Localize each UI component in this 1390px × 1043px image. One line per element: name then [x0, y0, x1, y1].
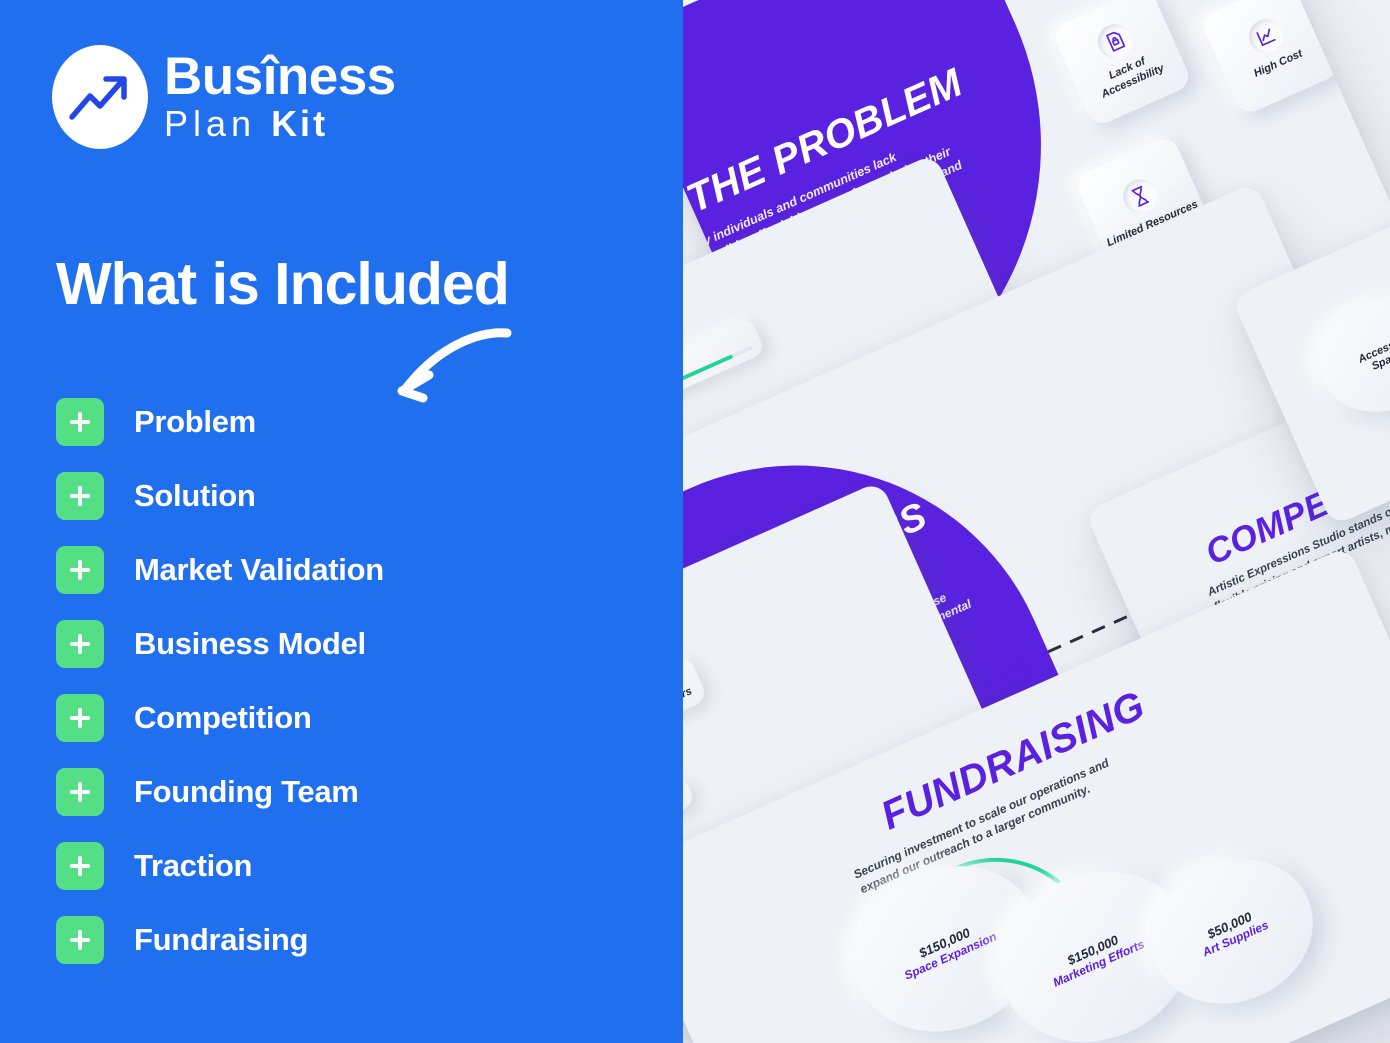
line-chart-icon [1244, 14, 1289, 59]
accessible-spaces-bubble[interactable]: Accessible Spaces [1301, 275, 1390, 432]
list-item[interactable]: Business Model [56, 607, 384, 681]
plus-icon [56, 694, 104, 742]
plus-icon [56, 546, 104, 594]
bubble-label: Accessible Spaces [1342, 325, 1390, 384]
brand-wordmark: Busîness Plan Kit [164, 51, 396, 143]
brand-line-2: Plan Kit [164, 105, 396, 143]
list-item-label: Traction [134, 848, 252, 884]
list-item[interactable]: Problem [56, 385, 384, 459]
list-item[interactable]: Traction [56, 829, 384, 903]
problem-card-label: Lack of Accessibility [1075, 41, 1184, 109]
problem-card-high-cost[interactable]: High Cost [1199, 0, 1342, 117]
lock-document-icon [1093, 19, 1138, 64]
curved-down-left-arrow-icon [385, 325, 515, 405]
plus-icon [56, 398, 104, 446]
list-item-label: Competition [134, 700, 312, 736]
list-item-label: Fundraising [134, 922, 308, 958]
hourglass-icon [1118, 174, 1163, 219]
plus-icon [56, 768, 104, 816]
brand-logo[interactable]: Busîness Plan Kit [52, 45, 396, 149]
brand-kit-text: Kit [271, 103, 328, 144]
plus-icon [56, 620, 104, 668]
list-item[interactable]: Competition [56, 681, 384, 755]
problem-card-accessibility[interactable]: Lack of Accessibility [1051, 0, 1194, 128]
list-item-label: Market Validation [134, 552, 384, 588]
poster-canvas: THE PROBLEM Many individuals and communi… [0, 0, 1390, 1043]
brand-plan-text: Plan [164, 103, 271, 144]
list-item-label: Problem [134, 404, 256, 440]
list-item-label: Solution [134, 478, 256, 514]
left-blue-panel: Busîness Plan Kit What is Included Probl… [0, 0, 683, 1043]
list-item-label: Business Model [134, 626, 366, 662]
plus-icon [56, 472, 104, 520]
plus-icon [56, 842, 104, 890]
page-title: What is Included [56, 250, 509, 318]
list-item-label: Founding Team [134, 774, 359, 810]
plus-icon [56, 916, 104, 964]
list-item[interactable]: Solution [56, 459, 384, 533]
brand-line-1: Busîness [164, 51, 396, 103]
list-item[interactable]: Fundraising [56, 903, 384, 977]
list-item[interactable]: Founding Team [56, 755, 384, 829]
list-item[interactable]: Market Validation [56, 533, 384, 607]
included-items-list: Problem Solution Market Validation Busin… [56, 385, 384, 977]
growth-chart-arrow-icon [52, 45, 148, 149]
